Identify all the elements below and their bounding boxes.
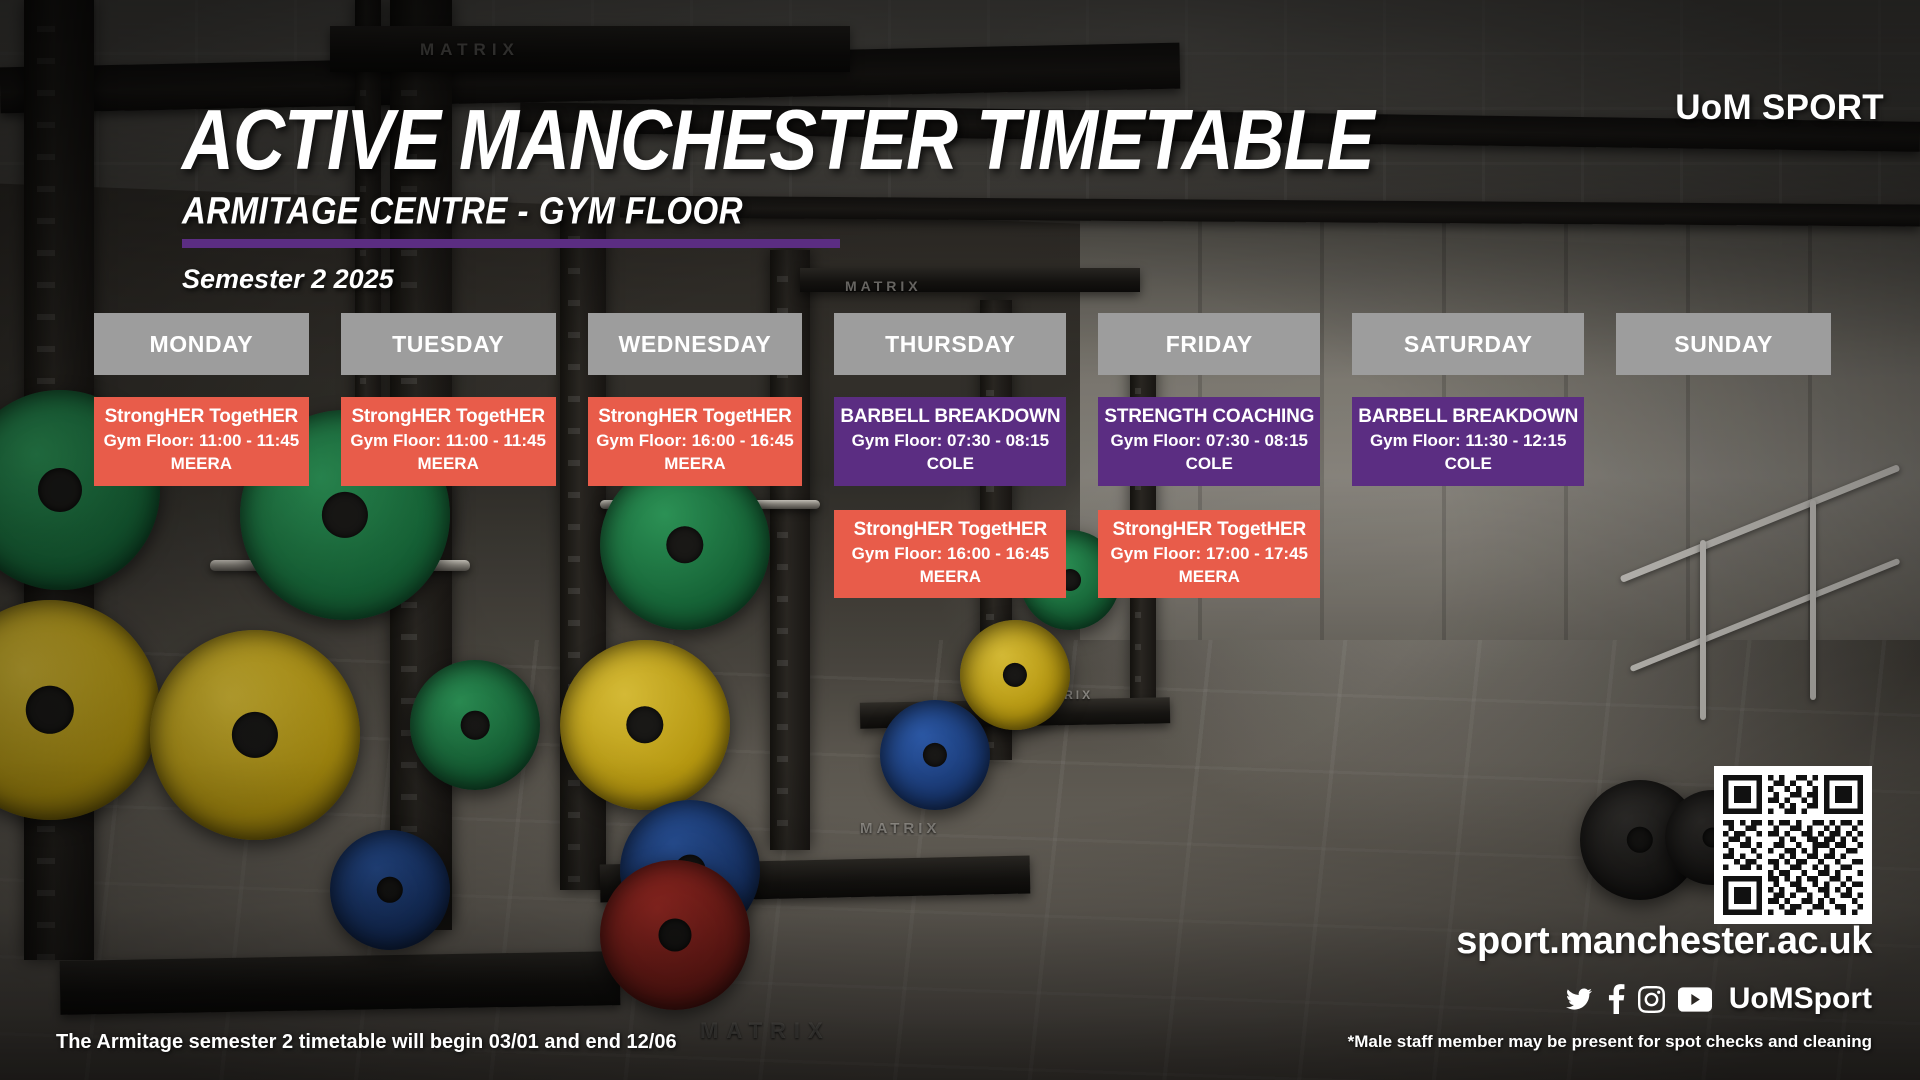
class-card[interactable]: BARBELL BREAKDOWN Gym Floor: 11:30 - 12:… bbox=[1352, 397, 1584, 486]
day-header-monday: MONDAY bbox=[94, 313, 309, 375]
day-column-tuesday: TUESDAY StrongHER TogetHER Gym Floor: 11… bbox=[341, 313, 556, 598]
social-links: UoMSport bbox=[1564, 982, 1872, 1016]
day-header-sunday: SUNDAY bbox=[1616, 313, 1831, 375]
qr-code[interactable] bbox=[1714, 766, 1872, 924]
class-name: StrongHER TogetHER bbox=[840, 519, 1060, 541]
day-column-sunday: SUNDAY bbox=[1616, 313, 1831, 598]
class-time: Gym Floor: 07:30 - 08:15 bbox=[1104, 431, 1314, 451]
day-slots-saturday: BARBELL BREAKDOWN Gym Floor: 11:30 - 12:… bbox=[1352, 397, 1584, 486]
semester-label: Semester 2 2025 bbox=[182, 264, 1374, 295]
poster: MATRIX MATRIX MATRIX MATRIX MATRIX ACTIV… bbox=[0, 0, 1920, 1080]
page-title: ACTIVE MANCHESTER TIMETABLE bbox=[182, 98, 1374, 183]
class-name: StrongHER TogetHER bbox=[594, 406, 797, 428]
class-coach: MEERA bbox=[1104, 567, 1314, 587]
class-card[interactable]: StrongHER TogetHER Gym Floor: 17:00 - 17… bbox=[1098, 510, 1320, 599]
class-card[interactable]: STRENGTH COACHING Gym Floor: 07:30 - 08:… bbox=[1098, 397, 1320, 486]
class-name: BARBELL BREAKDOWN bbox=[840, 406, 1060, 428]
website-url[interactable]: sport.manchester.ac.uk bbox=[1456, 920, 1872, 963]
class-name: StrongHER TogetHER bbox=[100, 406, 303, 428]
class-name: BARBELL BREAKDOWN bbox=[1358, 406, 1578, 428]
class-time: Gym Floor: 16:00 - 16:45 bbox=[594, 431, 797, 451]
day-column-wednesday: WEDNESDAY StrongHER TogetHER Gym Floor: … bbox=[588, 313, 803, 598]
class-time: Gym Floor: 11:30 - 12:15 bbox=[1358, 431, 1578, 451]
facebook-icon[interactable] bbox=[1607, 984, 1625, 1014]
class-coach: COLE bbox=[840, 454, 1060, 474]
class-time: Gym Floor: 17:00 - 17:45 bbox=[1104, 544, 1314, 564]
day-column-monday: MONDAY StrongHER TogetHER Gym Floor: 11:… bbox=[94, 313, 309, 598]
timetable-grid: MONDAY StrongHER TogetHER Gym Floor: 11:… bbox=[94, 313, 1831, 598]
day-header-friday: FRIDAY bbox=[1098, 313, 1320, 375]
day-slots-monday: StrongHER TogetHER Gym Floor: 11:00 - 11… bbox=[94, 397, 309, 486]
page-subtitle: ARMITAGE CENTRE - GYM FLOOR bbox=[182, 189, 1374, 233]
class-coach: COLE bbox=[1104, 454, 1314, 474]
class-coach: COLE bbox=[1358, 454, 1578, 474]
class-time: Gym Floor: 11:00 - 11:45 bbox=[347, 431, 550, 451]
footer-term-dates: The Armitage semester 2 timetable will b… bbox=[56, 1031, 677, 1054]
day-slots-tuesday: StrongHER TogetHER Gym Floor: 11:00 - 11… bbox=[341, 397, 556, 486]
day-header-saturday: SATURDAY bbox=[1352, 313, 1584, 375]
twitter-icon[interactable] bbox=[1564, 986, 1594, 1012]
class-card[interactable]: StrongHER TogetHER Gym Floor: 16:00 - 16… bbox=[588, 397, 803, 486]
day-column-friday: FRIDAY STRENGTH COACHING Gym Floor: 07:3… bbox=[1098, 313, 1320, 598]
class-card[interactable]: StrongHER TogetHER Gym Floor: 11:00 - 11… bbox=[94, 397, 309, 486]
class-coach: MEERA bbox=[594, 454, 797, 474]
day-column-saturday: SATURDAY BARBELL BREAKDOWN Gym Floor: 11… bbox=[1352, 313, 1584, 598]
title-block: ACTIVE MANCHESTER TIMETABLE ARMITAGE CEN… bbox=[182, 98, 1374, 295]
day-slots-friday: STRENGTH COACHING Gym Floor: 07:30 - 08:… bbox=[1098, 397, 1320, 598]
class-time: Gym Floor: 11:00 - 11:45 bbox=[100, 431, 303, 451]
class-coach: MEERA bbox=[100, 454, 303, 474]
instagram-icon[interactable] bbox=[1638, 986, 1665, 1013]
day-header-thursday: THURSDAY bbox=[834, 313, 1066, 375]
day-column-thursday: THURSDAY BARBELL BREAKDOWN Gym Floor: 07… bbox=[834, 313, 1066, 598]
uom-sport-logo: UoM SPORT bbox=[1675, 88, 1884, 128]
day-header-wednesday: WEDNESDAY bbox=[588, 313, 803, 375]
day-slots-thursday: BARBELL BREAKDOWN Gym Floor: 07:30 - 08:… bbox=[834, 397, 1066, 598]
class-time: Gym Floor: 07:30 - 08:15 bbox=[840, 431, 1060, 451]
class-name: STRENGTH COACHING bbox=[1104, 406, 1314, 428]
class-coach: MEERA bbox=[840, 567, 1060, 587]
class-name: StrongHER TogetHER bbox=[1104, 519, 1314, 541]
class-card[interactable]: StrongHER TogetHER Gym Floor: 16:00 - 16… bbox=[834, 510, 1066, 599]
day-header-tuesday: TUESDAY bbox=[341, 313, 556, 375]
class-coach: MEERA bbox=[347, 454, 550, 474]
day-slots-wednesday: StrongHER TogetHER Gym Floor: 16:00 - 16… bbox=[588, 397, 803, 486]
class-name: StrongHER TogetHER bbox=[347, 406, 550, 428]
class-time: Gym Floor: 16:00 - 16:45 bbox=[840, 544, 1060, 564]
social-handle: UoMSport bbox=[1729, 982, 1872, 1016]
class-card[interactable]: BARBELL BREAKDOWN Gym Floor: 07:30 - 08:… bbox=[834, 397, 1066, 486]
footer-disclaimer: *Male staff member may be present for sp… bbox=[1348, 1032, 1872, 1052]
class-card[interactable]: StrongHER TogetHER Gym Floor: 11:00 - 11… bbox=[341, 397, 556, 486]
title-underline-rule bbox=[182, 239, 840, 248]
youtube-icon[interactable] bbox=[1678, 987, 1712, 1012]
